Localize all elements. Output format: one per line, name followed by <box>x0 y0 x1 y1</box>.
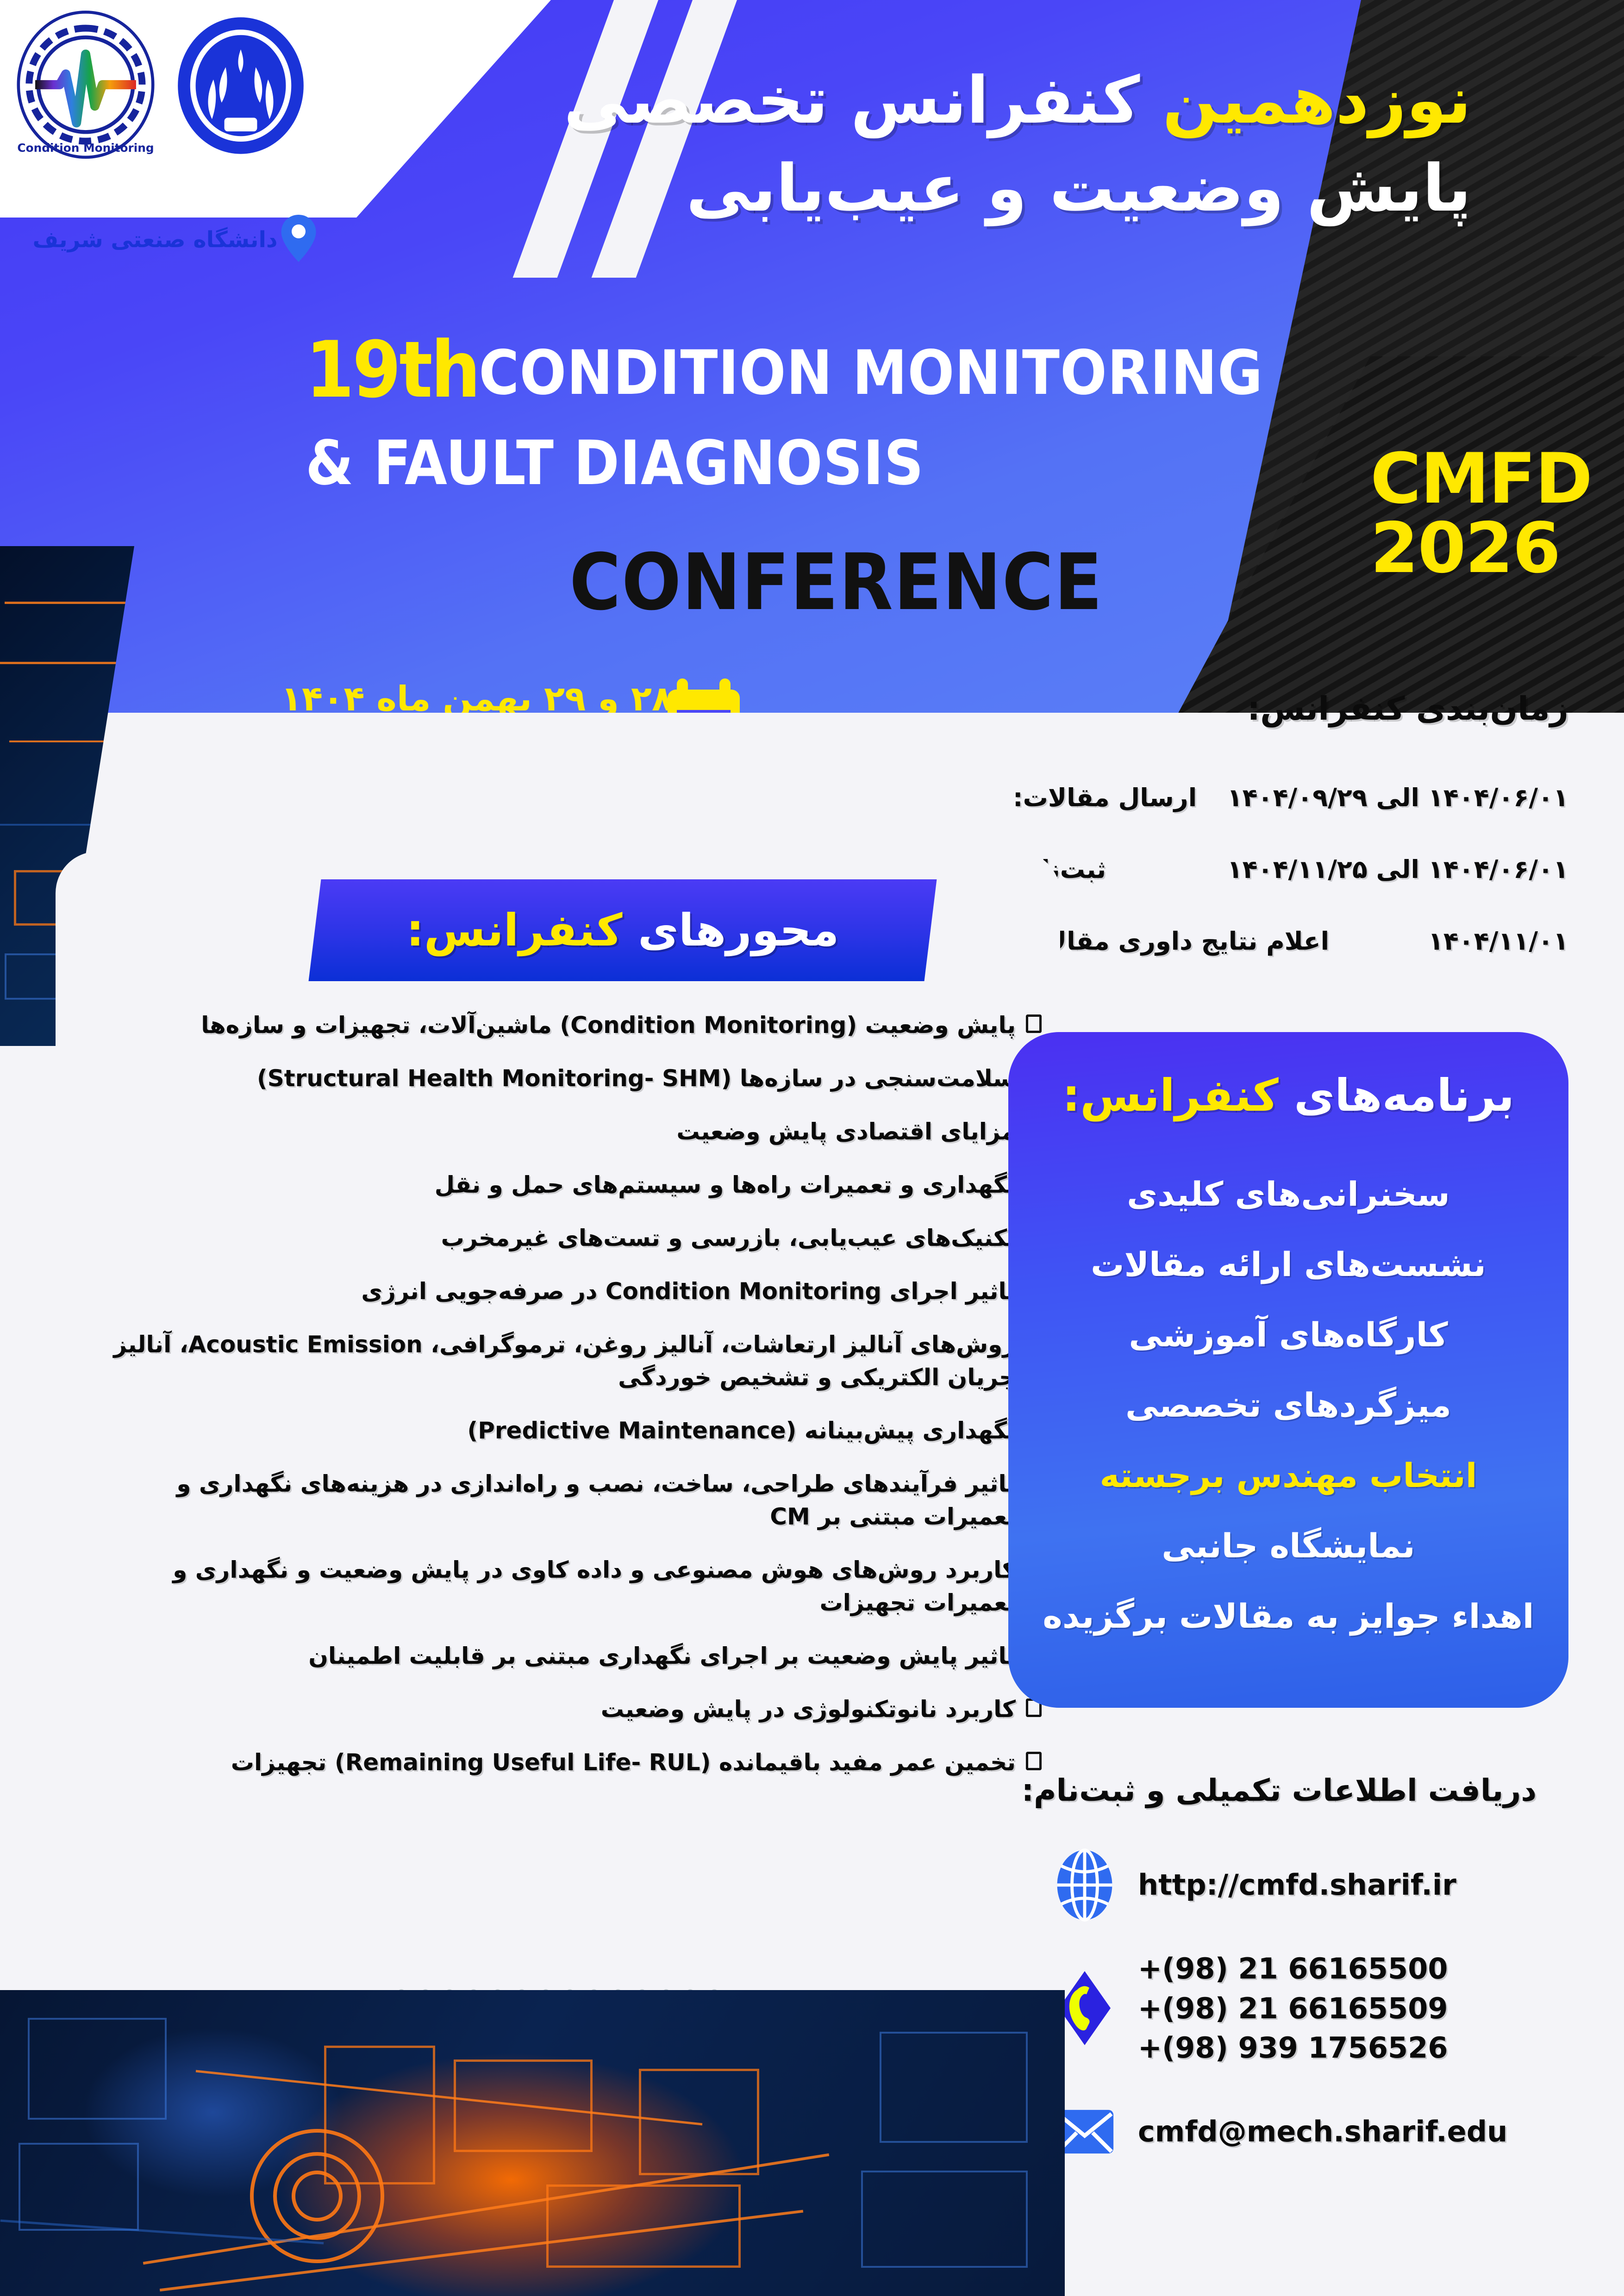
topic-item: کاربرد روش‌های هوش مصنوعی و داده کاوی در… <box>79 1554 1042 1619</box>
topic-label: پایش وضعیت (Condition Monitoring) ماشین‌… <box>79 1009 1016 1042</box>
schedule-value: ۱۴۰۴/۰۶/۰۱ الی ۱۴۰۴/۱۱/۲۵ <box>1227 855 1568 884</box>
conference-schedule: زمان‌بندی کنفرانس: ۱۴۰۴/۰۶/۰۱ الی ۱۴۰۴/۰… <box>1013 690 1568 998</box>
conference-poster: Condition Monitoring دانشگاه صنعتی شریف <box>0 0 1624 2296</box>
website-row[interactable]: http://cmfd.sharif.ir <box>990 1848 1568 1922</box>
program-item: سخنرانی‌های کلیدی <box>1008 1173 1568 1215</box>
topic-label: تخمین عمر مفید باقیمانده (Remaining Usef… <box>79 1746 1016 1779</box>
cmfd-badge: CMFD 2026 <box>1370 444 1611 583</box>
program-item: میزگردهای تخصصی <box>1008 1384 1568 1426</box>
topic-label: نگهداری و تعمیرات راه‌ها و سیستم‌های حمل… <box>79 1169 1016 1201</box>
schedule-heading: زمان‌بندی کنفرانس: <box>1013 690 1568 728</box>
topic-item: تکنیک‌های عیب‌یابی، بازرسی و تست‌های غیر… <box>79 1222 1042 1255</box>
topic-label: کاربرد روش‌های هوش مصنوعی و داده کاوی در… <box>79 1554 1016 1619</box>
location-pin-icon <box>278 213 319 264</box>
topic-item: کاربرد نانوتکنولوژی در پایش وضعیت <box>79 1693 1042 1726</box>
program-item: نمایشگاه جانبی <box>1008 1525 1568 1567</box>
programs-panel: برنامه‌های کنفرانس: سخنرانی‌های کلیدی نش… <box>1008 1032 1568 1708</box>
conference-title-fa-line2: پایش وضعیت و عیب‌یابی <box>453 148 1471 229</box>
title-en-line2: & FAULT DIAGNOSIS <box>306 428 1370 500</box>
website-url[interactable]: http://cmfd.sharif.ir <box>1138 1865 1456 1905</box>
programs-heading: برنامه‌های کنفرانس: <box>1008 1069 1568 1122</box>
schedule-row: ۱۴۰۴/۱۱/۰۱ اعلام نتایج داوری مقالات: <box>1013 927 1568 956</box>
title-rest-fa: کنفرانس تخصصی <box>564 63 1140 138</box>
topic-item: مزایای اقتصادی پایش وضعیت <box>79 1115 1042 1148</box>
topic-label: کاربرد نانوتکنولوژی در پایش وضعیت <box>79 1693 1016 1726</box>
phone-number[interactable]: +(98) 939 1756526 <box>1138 2031 1448 2065</box>
topic-item: تاثیر اجرای Condition Monitoring در صرفه… <box>79 1275 1042 1308</box>
condition-monitoring-center-logo-icon: Condition Monitoring <box>9 8 162 161</box>
topic-item: روش‌های آنالیز ارتعاشات، آنالیز روغن، تر… <box>79 1328 1042 1394</box>
email-address[interactable]: cmfd@mech.sharif.edu <box>1138 2112 1507 2152</box>
topic-label: مزایای اقتصادی پایش وضعیت <box>79 1115 1016 1148</box>
topic-item: نگهداری پیش‌بینانه (Predictive Maintenan… <box>79 1414 1042 1447</box>
topic-label: تکنیک‌های عیب‌یابی، بازرسی و تست‌های غیر… <box>79 1222 1016 1255</box>
phone-numbers[interactable]: +(98) 21 66165500 +(98) 21 66165509 +(98… <box>1138 1949 1448 2068</box>
sharif-university-logo-icon <box>171 14 310 157</box>
topic-label: سلامت‌سنجی در سازه‌ها (Structural Health… <box>79 1062 1016 1095</box>
program-item: نشست‌های ارائه مقالات <box>1008 1244 1568 1285</box>
schedule-label: ارسال مقالات: <box>1013 783 1197 812</box>
badge-acronym: CMFD <box>1370 444 1611 514</box>
svg-text:Condition Monitoring: Condition Monitoring <box>17 141 154 155</box>
schedule-label: اعلام نتایج داوری مقالات: <box>1013 927 1329 956</box>
poster-header: Condition Monitoring دانشگاه صنعتی شریف <box>0 0 1624 713</box>
topic-label: روش‌های آنالیز ارتعاشات، آنالیز روغن، تر… <box>79 1328 1016 1394</box>
program-item: اهداء جوایز به مقالات برگزیده <box>1008 1595 1568 1637</box>
checkbox-bullet-icon <box>1026 1752 1042 1770</box>
badge-year: 2026 <box>1370 514 1611 583</box>
topic-item: تخمین عمر مفید باقیمانده (Remaining Usef… <box>79 1746 1042 1779</box>
programs-heading-highlight: کنفرانس: <box>1062 1070 1279 1121</box>
checkbox-bullet-icon <box>1026 1014 1042 1033</box>
date-persian: ۲۸ و ۲۹ بهمن ماه ۱۴۰۴ <box>204 680 750 713</box>
topic-item: سلامت‌سنجی در سازه‌ها (Structural Health… <box>79 1062 1042 1095</box>
conference-date: ۲۸ و ۲۹ بهمن ماه ۱۴۰۴ 17-18 Feb 2026 <box>204 680 750 713</box>
topic-item: پایش وضعیت (Condition Monitoring) ماشین‌… <box>79 1009 1042 1042</box>
title-ordinal-en: 19th <box>306 324 479 415</box>
title-ordinal-fa: نوزدهمین <box>1162 63 1471 138</box>
topic-label: نگهداری پیش‌بینانه (Predictive Maintenan… <box>79 1414 1016 1447</box>
topic-label: تاثیر پایش وضعیت بر اجرای نگهداری مبتنی … <box>79 1640 1016 1673</box>
university-name-label: دانشگاه صنعتی شریف <box>12 227 299 253</box>
topic-item: نگهداری و تعمیرات راه‌ها و سیستم‌های حمل… <box>79 1169 1042 1201</box>
globe-icon <box>1050 1848 1119 1922</box>
topics-banner-highlight: کنفرانس: <box>406 904 623 956</box>
topic-item: تاثیر پایش وضعیت بر اجرای نگهداری مبتنی … <box>79 1640 1042 1673</box>
topics-banner-rest: محورهای <box>638 904 839 956</box>
schedule-row: ۱۴۰۴/۰۶/۰۱ الی ۱۴۰۴/۰۹/۲۹ ارسال مقالات: <box>1013 783 1568 812</box>
topics-list: پایش وضعیت (Condition Monitoring) ماشین‌… <box>79 1009 1042 1799</box>
topics-banner: محورهای کنفرانس: <box>308 879 937 981</box>
topic-item: تاثیر فرآیندهای طراحی، ساخت، نصب و راه‌ا… <box>79 1468 1042 1533</box>
conference-word: CONFERENCE <box>569 537 1103 628</box>
email-row[interactable]: cmfd@mech.sharif.edu <box>990 2095 1568 2169</box>
program-item-featured: انتخاب مهندس برجسته <box>1008 1455 1568 1496</box>
topic-label: تاثیر فرآیندهای طراحی، ساخت، نصب و راه‌ا… <box>79 1468 1016 1533</box>
program-item: کارگاه‌های آموزشی <box>1008 1314 1568 1356</box>
schedule-value: ۱۴۰۴/۰۶/۰۱ الی ۱۴۰۴/۰۹/۲۹ <box>1227 783 1568 812</box>
title-en-line1: CONDITION MONITORING <box>479 337 1263 409</box>
programs-heading-rest: برنامه‌های <box>1294 1070 1514 1121</box>
schedule-value: ۱۴۰۴/۱۱/۰۱ <box>1428 927 1568 956</box>
phone-number[interactable]: +(98) 21 66165509 <box>1138 1991 1448 2025</box>
logo-area: Condition Monitoring دانشگاه صنعتی شریف <box>0 0 463 296</box>
contact-section: دریافت اطلاعات تکمیلی و ثبت‌نام: http://… <box>990 1773 1568 2196</box>
bottom-decorative-image <box>0 1990 1065 2296</box>
contact-heading: دریافت اطلاعات تکمیلی و ثبت‌نام: <box>990 1773 1568 1808</box>
phone-row[interactable]: +(98) 21 66165500 +(98) 21 66165509 +(98… <box>990 1949 1568 2068</box>
conference-title-en: 19thCONDITION MONITORING & FAULT DIAGNOS… <box>306 324 1370 500</box>
conference-title-fa-line1: نوزدهمین کنفرانس تخصصی <box>453 60 1471 141</box>
schedule-row: ۱۴۰۴/۰۶/۰۱ الی ۱۴۰۴/۱۱/۲۵ ثبت‌نام: <box>1013 855 1568 884</box>
topics-card: محورهای کنفرانس: پایش وضعیت (Condition M… <box>56 852 1060 2027</box>
phone-number[interactable]: +(98) 21 66165500 <box>1138 1952 1448 1985</box>
topic-label: تاثیر اجرای Condition Monitoring در صرفه… <box>79 1275 1016 1308</box>
